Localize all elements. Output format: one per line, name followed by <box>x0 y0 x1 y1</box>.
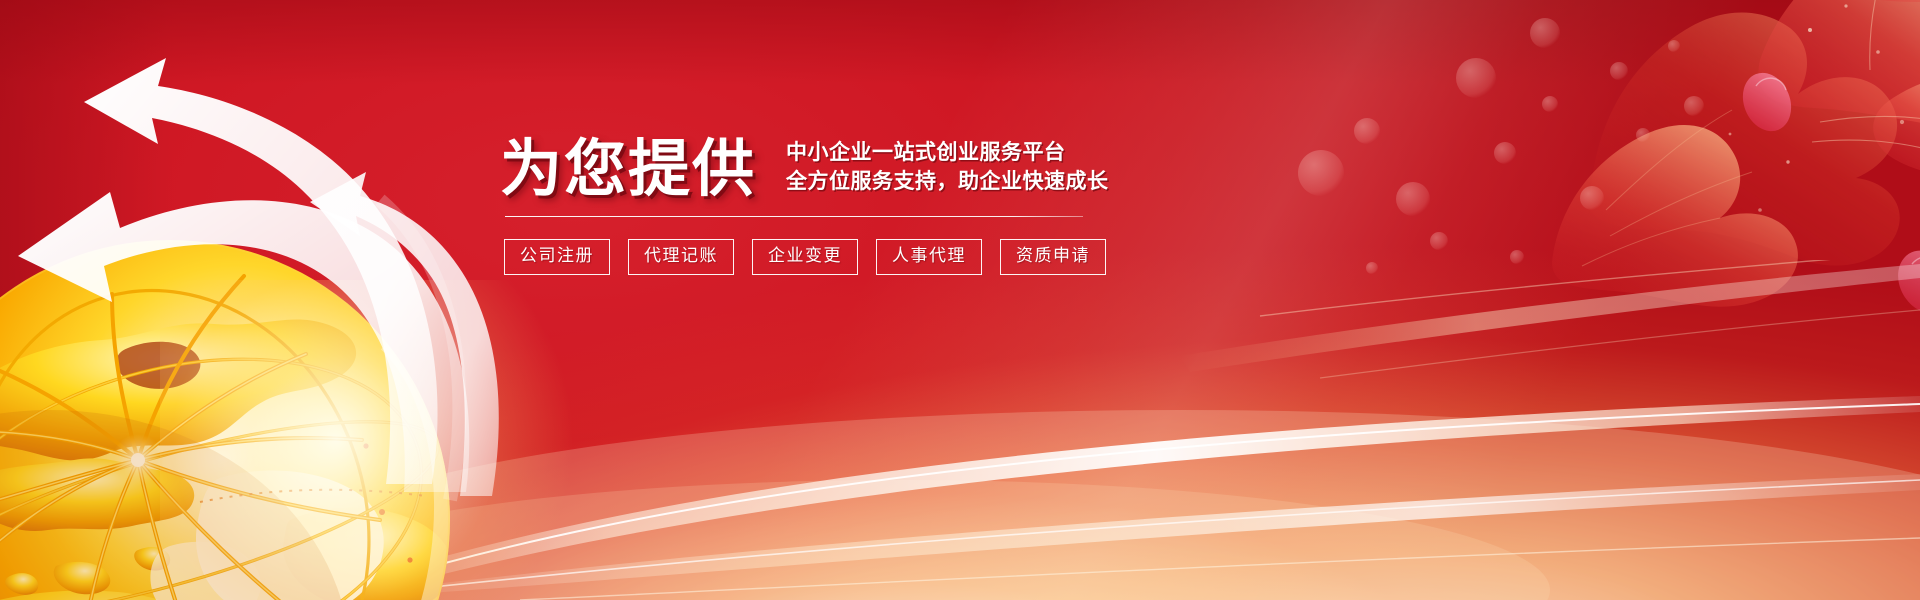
curved-arrows-icon <box>0 40 600 510</box>
divider <box>505 216 1083 217</box>
service-button-agency-bookkeeping[interactable]: 代理记账 <box>628 239 734 275</box>
service-button-row: 公司注册 代理记账 企业变更 人事代理 资质申请 <box>504 239 1120 275</box>
banner-content: 为您提供 中小企业一站式创业服务平台 全方位服务支持，助企业快速成长 公司注册 … <box>500 138 1120 275</box>
subtitle-group: 中小企业一站式创业服务平台 全方位服务支持，助企业快速成长 <box>786 138 1109 200</box>
promo-banner: 为您提供 中小企业一站式创业服务平台 全方位服务支持，助企业快速成长 公司注册 … <box>0 0 1920 600</box>
headline-row: 为您提供 中小企业一站式创业服务平台 全方位服务支持，助企业快速成长 <box>500 138 1120 200</box>
flower-petals-icon <box>1290 0 1920 340</box>
service-button-company-registration[interactable]: 公司注册 <box>504 239 610 275</box>
page-title: 为您提供 <box>500 138 756 200</box>
subtitle-line-1: 中小企业一站式创业服务平台 <box>786 138 1109 167</box>
subtitle-line-2: 全方位服务支持，助企业快速成长 <box>786 167 1109 196</box>
service-button-hr-agency[interactable]: 人事代理 <box>876 239 982 275</box>
service-button-enterprise-change[interactable]: 企业变更 <box>752 239 858 275</box>
service-button-qualification-application[interactable]: 资质申请 <box>1000 239 1106 275</box>
